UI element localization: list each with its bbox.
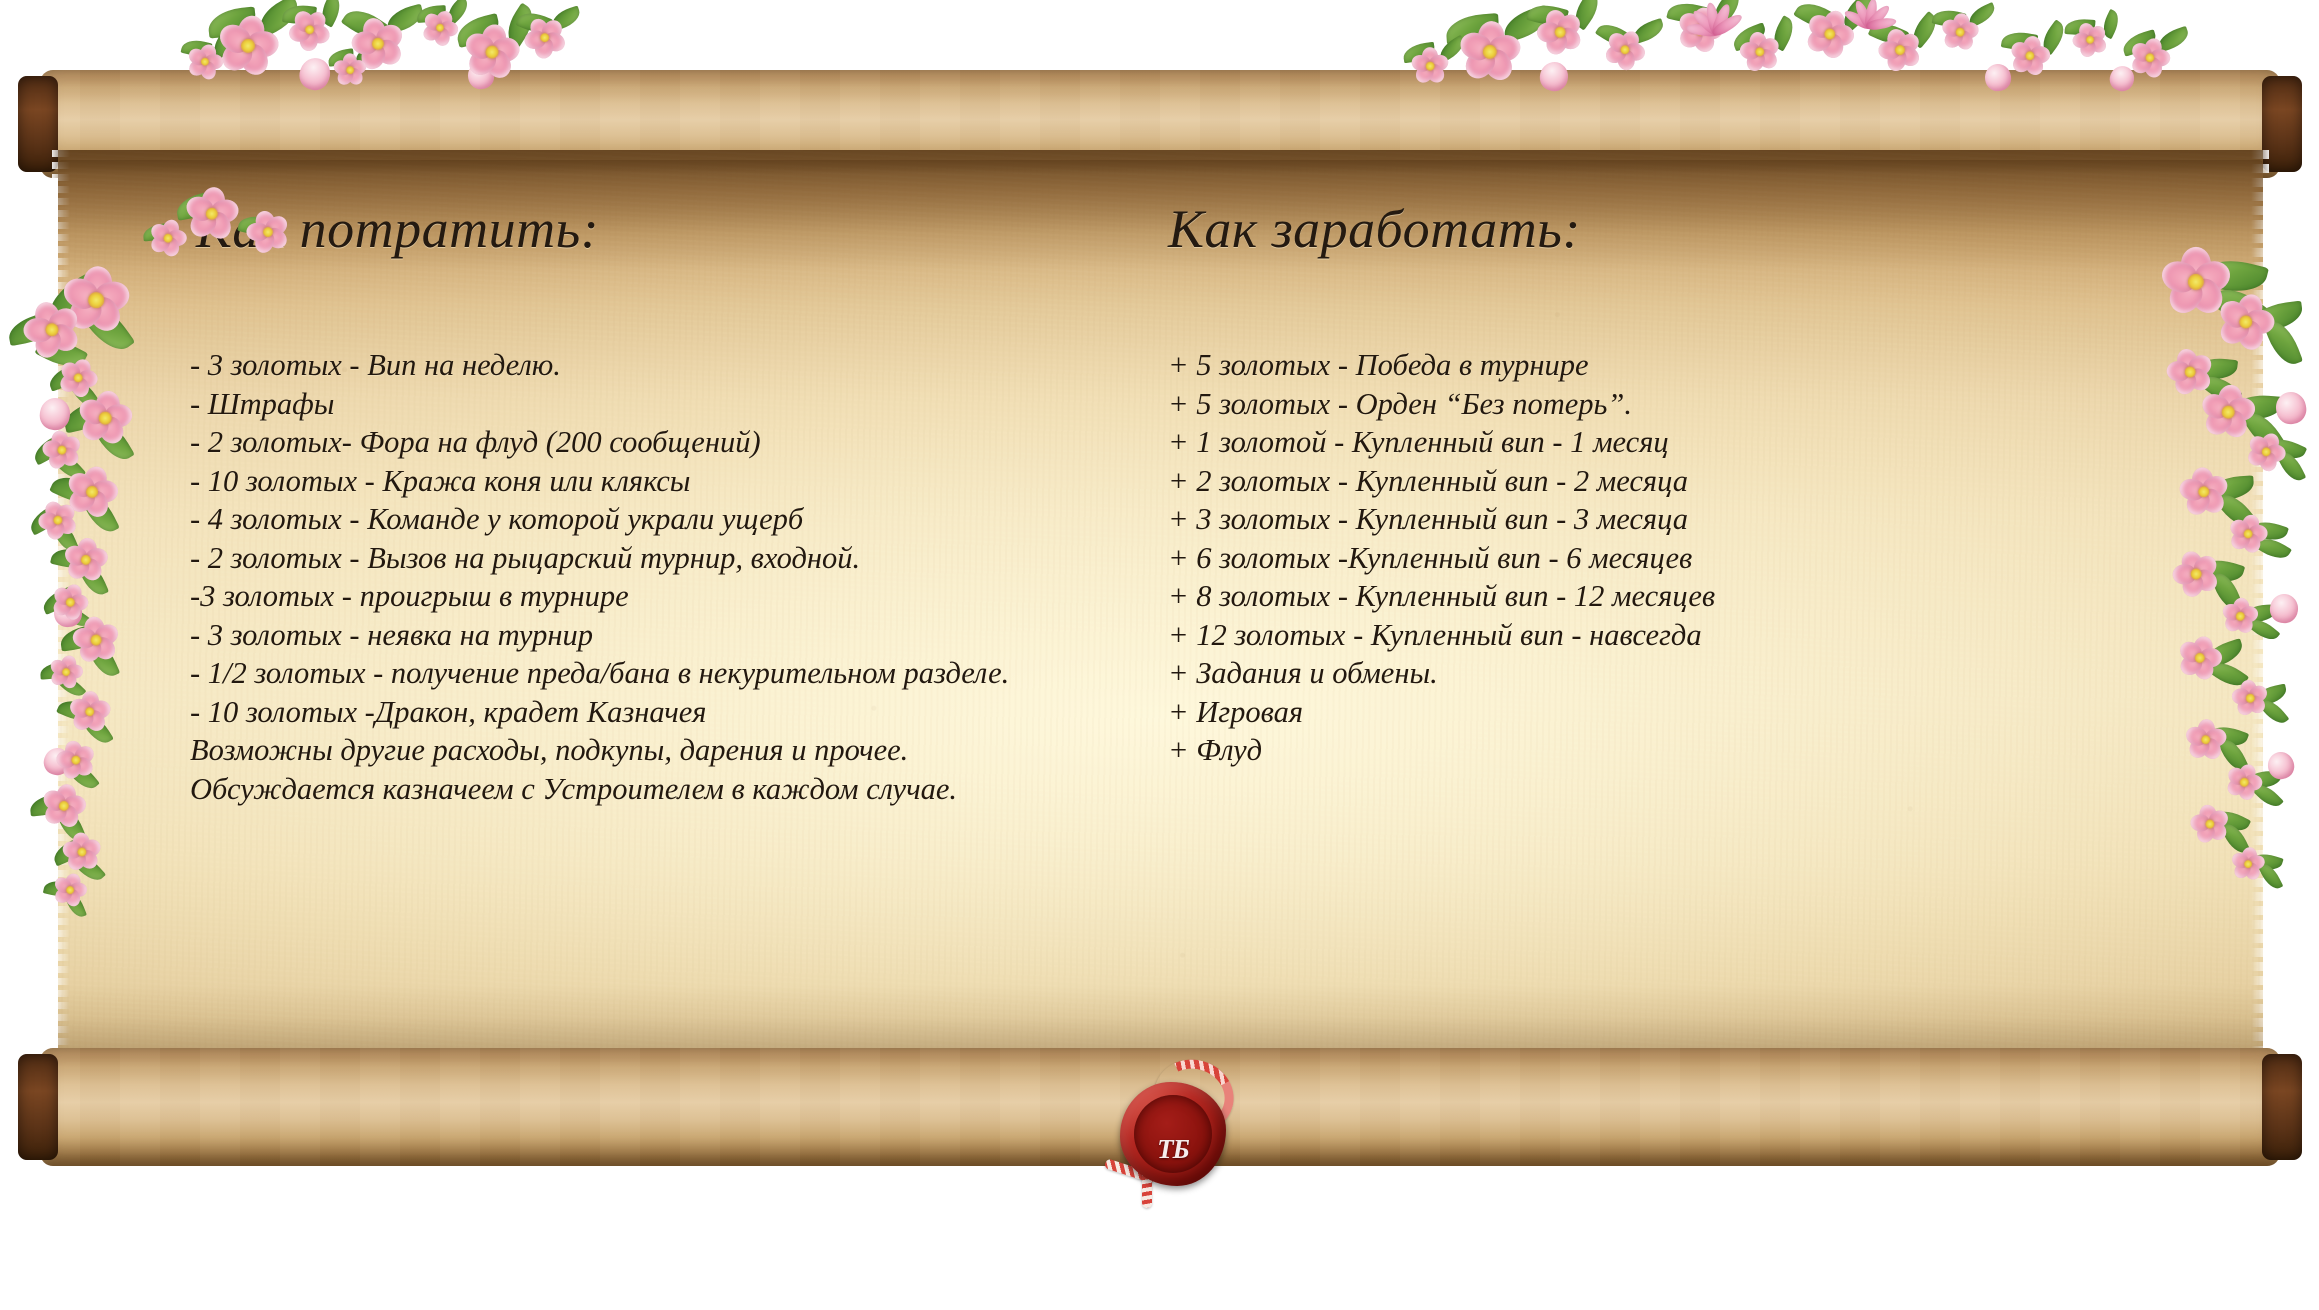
blossom-icon (216, 14, 281, 79)
list-item: - 2 золотых- Фора на флуд (200 сообщений… (190, 423, 1128, 462)
blossom-icon (2180, 468, 2228, 516)
blossom-icon (2200, 384, 2255, 439)
flower-bud-icon (2268, 592, 2300, 625)
earn-line-list: + 5 золотых - Победа в турнире + 5 золот… (1168, 346, 2198, 770)
blossom-icon (2186, 720, 2226, 760)
blossom-icon (70, 692, 110, 732)
blossom-icon (2009, 35, 2052, 78)
blossom-center (2221, 405, 2235, 419)
list-item: + 1 золотой - Купленный вип - 1 месяц (1168, 423, 2198, 462)
list-item: - Штрафы (190, 385, 1128, 424)
blossom-icon (464, 24, 520, 80)
blossom-icon (64, 538, 107, 581)
seal-monogram: ТБ (1120, 1134, 1226, 1165)
blossom-icon (2222, 598, 2258, 634)
blossom-icon (1460, 22, 1520, 82)
list-item: + 12 золотых - Купленный вип - навсегда (1168, 616, 2198, 655)
list-item: - 10 золотых -Дракон, крадет Казначея (190, 693, 1128, 732)
blossom-icon (2165, 251, 2228, 314)
blossom-icon (2231, 847, 2265, 881)
blossom-icon (1941, 13, 1979, 51)
blossom-icon (335, 55, 365, 85)
lily-blossom-icon (1841, 0, 1897, 54)
lily-blossom-icon (1685, 1, 1747, 63)
blossom-icon (2189, 803, 2230, 844)
column-how-to-spend: Как потратить: - 3 золотых - Вип на неде… (128, 150, 1128, 1065)
blossom-icon (63, 833, 101, 871)
blossom-icon (2227, 513, 2269, 555)
spend-note-1: Возможны другие расходы, подкупы, дарени… (190, 731, 1128, 770)
blossom-center (98, 411, 113, 426)
blossom-center (87, 291, 104, 308)
list-item: + 6 золотых -Купленный вип - 6 месяцев (1168, 539, 2198, 578)
blossom-icon (2231, 679, 2269, 717)
roll-end-cap-left (18, 76, 58, 172)
spend-note-2: Обсуждается казначеем с Устроителем в ка… (190, 770, 1128, 809)
list-item: + Флуд (1168, 731, 2198, 770)
list-item: - 1/2 золотых - получение преда/бана в н… (190, 654, 1128, 693)
list-item: - 10 золотых - Кража коня или кляксы (190, 462, 1128, 501)
content-columns: Как потратить: - 3 золотых - Вип на неде… (58, 150, 2263, 1065)
list-item: + Игровая (1168, 693, 2198, 732)
blossom-icon (1413, 49, 1447, 83)
roll-end-cap-left (18, 1054, 58, 1160)
blossom-icon (41, 783, 88, 830)
blossom-center (1426, 62, 1435, 71)
spend-column-title: Как потратить: (196, 198, 1128, 260)
list-item: + 3 золотых - Купленный вип - 3 месяца (1168, 500, 2198, 539)
list-item: + 8 золотых - Купленный вип - 12 месяцев (1168, 577, 2198, 616)
scroll-poster: Как потратить: - 3 золотых - Вип на неде… (0, 0, 2319, 1310)
flower-bud-icon (2273, 390, 2308, 426)
list-item: -3 золотых - проигрыш в турнире (190, 577, 1128, 616)
wax-seal: ТБ (1108, 1060, 1238, 1205)
list-item: + Задания и обмены. (1168, 654, 2198, 693)
list-item: + 2 золотых - Купленный вип - 2 месяца (1168, 462, 2198, 501)
wax-blob-icon: ТБ (1120, 1082, 1226, 1186)
list-item: - 3 золотых - неявка на турнир (190, 616, 1128, 655)
list-item: - 2 золотых - Вызов на рыцарский турнир,… (190, 539, 1128, 578)
list-item: - 3 золотых - Вип на неделю. (190, 346, 1128, 385)
blossom-icon (55, 739, 97, 781)
column-how-to-earn: Как заработать: + 5 золотых - Победа в т… (1138, 150, 2198, 1065)
blossom-icon (77, 390, 133, 446)
roll-end-cap-right (2262, 1054, 2302, 1160)
earn-column-title: Как заработать: (1168, 198, 2198, 260)
spend-line-list: - 3 золотых - Вип на неделю. - Штрафы - … (190, 346, 1128, 808)
list-item: - 4 золотых - Команде у которой украли у… (190, 500, 1128, 539)
blossom-icon (72, 616, 119, 663)
list-item: + 5 золотых - Победа в турнире (1168, 346, 2198, 385)
blossom-center (346, 66, 354, 74)
roll-end-cap-right (2262, 76, 2302, 172)
blossom-center (77, 847, 87, 857)
blossom-icon (186, 188, 239, 241)
list-item: + 5 золотых - Орден “Без потерь”. (1168, 385, 2198, 424)
